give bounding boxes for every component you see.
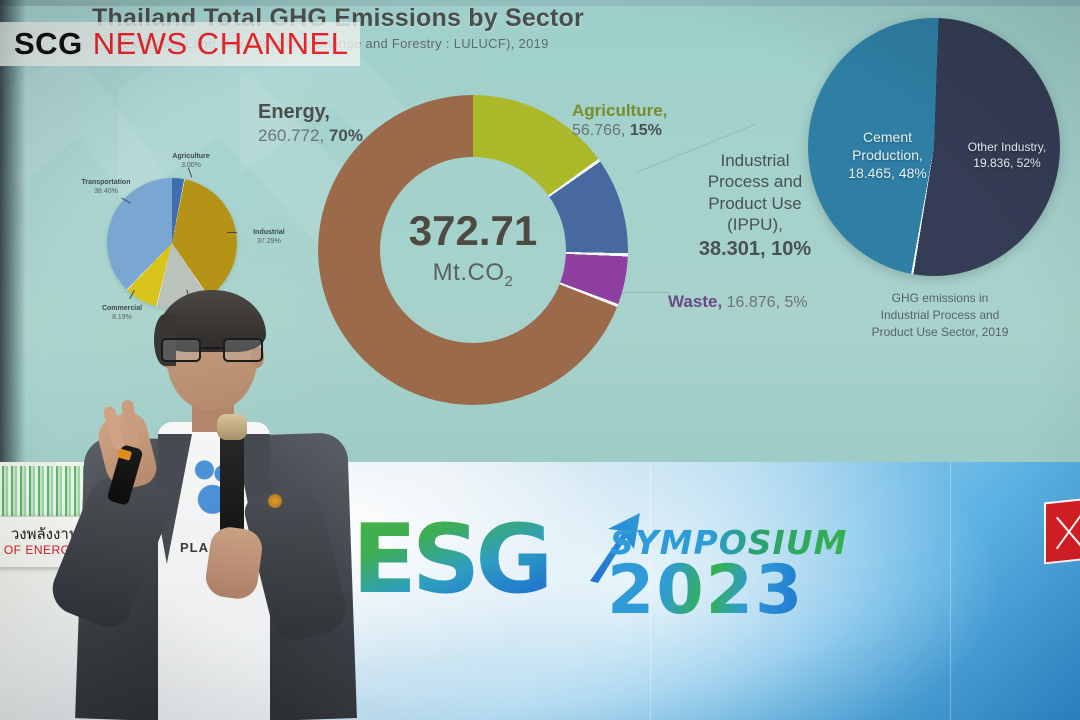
ippu-pie-label-other-industry: Other Industry, 19.836, 52%: [952, 140, 1062, 171]
watermark-brand: SCG: [14, 26, 83, 62]
lapel-pin-icon: [268, 494, 282, 508]
small-pie-label-agriculture: Agriculture 3.00%: [159, 152, 223, 171]
news-channel-watermark: SCG NEWS CHANNEL: [0, 22, 360, 66]
eyeglass-bridge: [201, 347, 223, 349]
total-ghg-donut-chart: 372.71 Mt.CO2: [318, 95, 628, 405]
esg-wordmark: ESG: [352, 513, 548, 608]
small-pie-label-transportation: Transportation 38.40%: [67, 178, 145, 197]
ippu-pie-caption: GHG emissions in Industrial Process and …: [820, 290, 1060, 340]
ippu-breakdown-pie-chart: Cement Production, 18.465, 48% Other Ind…: [800, 18, 1070, 328]
year-wordmark: 2023: [607, 551, 804, 630]
donut-unit: Mt.CO2: [433, 259, 514, 290]
esg-symposium-logo: ESG SYMPOSIUM 2023: [352, 505, 822, 620]
scg-diamond-logo-icon: [1044, 498, 1080, 565]
backdrop-panel-seam: [950, 462, 951, 720]
small-pie-label-industrial: Industrial 37.29%: [241, 228, 297, 247]
eyeglass-lens-right: [223, 338, 263, 362]
microphone-head-icon: [217, 414, 247, 440]
small-pie-leader-industrial: [227, 232, 237, 233]
donut-leader-waste: [622, 292, 670, 293]
donut-center: 372.71 Mt.CO2: [380, 157, 566, 343]
donut-total-value: 372.71: [409, 210, 537, 252]
screenshot-stage: Thailand Total GHG Emissions by Sector (…: [0, 0, 1080, 720]
donut-label-waste: Waste, 16.876, 5%: [668, 291, 808, 313]
eyeglass-lens-left: [161, 338, 201, 362]
slide-left-shadow: [0, 0, 26, 468]
eyeglasses-icon: [161, 338, 265, 362]
watermark-channel: NEWS CHANNEL: [93, 26, 349, 62]
donut-label-agriculture: Agriculture, 56.766, 15%: [572, 100, 667, 141]
speaker-shirt-text: PLA: [180, 540, 209, 555]
speaker-figure: PLA: [62, 288, 362, 720]
ippu-pie-label-cement: Cement Production, 18.465, 48%: [830, 128, 945, 183]
donut-label-energy: Energy, 260.772, 70%: [258, 100, 363, 146]
